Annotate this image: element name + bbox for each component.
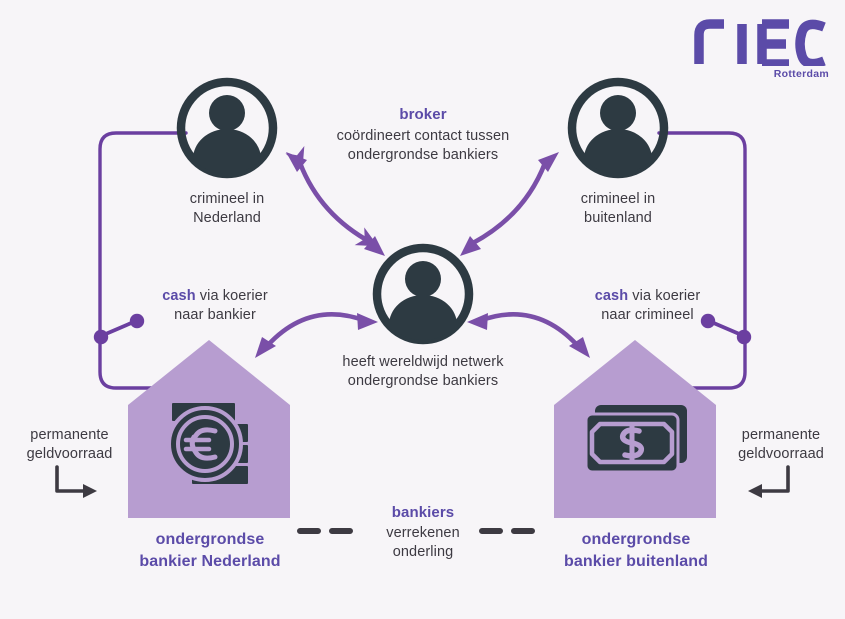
broker-desc-line2: ondergrondse bankiers [313, 146, 533, 165]
label-permanent-stock-right: permanente geldvoorraad [722, 426, 840, 464]
avatar-criminal-abroad [572, 82, 664, 174]
riec-logo-subtitle: Rotterdam [774, 68, 829, 80]
permanent-stock-arrow-right [748, 467, 788, 498]
broker-sub-line2: ondergrondse bankiers [323, 372, 523, 391]
settlement-title: bankiers [363, 503, 483, 523]
label-criminal-abroad: crimineel in buitenland [548, 190, 688, 228]
banker-abroad-line2: bankier buitenland [555, 551, 717, 573]
arrow-broker-criminal-nl [300, 163, 372, 243]
label-banker-abroad: ondergrondse bankier buitenland [555, 529, 717, 572]
house-banker-abroad [554, 340, 716, 518]
label-criminal-nl-line2: Nederland [157, 209, 297, 228]
label-broker-network: heeft wereldwijd netwerk ondergrondse ba… [323, 353, 523, 391]
label-criminal-nl-line1: crimineel in [157, 190, 297, 209]
courier-path-right [659, 133, 751, 388]
avatar-criminal-nl [181, 82, 273, 174]
arrow-broker-criminal-abroad [460, 152, 559, 256]
cash-right-line2: naar crimineel [570, 306, 725, 325]
label-banker-nl: ondergrondse bankier Nederland [130, 529, 290, 572]
settlement-line1: verrekenen [363, 524, 483, 543]
banker-abroad-line1: ondergrondse [555, 529, 717, 551]
label-cash-left: cash via koerier naar bankier [140, 287, 290, 325]
cash-left-line2: naar bankier [140, 306, 290, 325]
banker-nl-line1: ondergrondse [130, 529, 290, 551]
label-criminal-abroad-line2: buitenland [548, 209, 688, 228]
broker-sub-line1: heeft wereldwijd netwerk [323, 353, 523, 372]
avatar-broker [377, 248, 469, 340]
infographic-canvas: Rotterdam [0, 0, 845, 619]
settlement-line2: onderling [363, 543, 483, 562]
cash-right-bold: cash [595, 288, 628, 304]
label-settlement: bankiers verrekenen onderling [363, 503, 483, 562]
stock-right-line1: permanente [722, 426, 840, 445]
courier-path-left [94, 133, 186, 388]
stock-right-line2: geldvoorraad [722, 445, 840, 464]
banker-nl-line2: bankier Nederland [130, 551, 290, 573]
cash-left-rest: via koerier [196, 288, 268, 304]
label-criminal-nl: crimineel in Nederland [157, 190, 297, 228]
dollar-banknotes-icon [586, 405, 687, 472]
house-banker-nl [128, 340, 290, 518]
arrowheads-upper-left [286, 152, 385, 256]
stock-left-line1: permanente [12, 426, 127, 445]
riec-logo-mark [694, 18, 829, 66]
broker-desc-line1: coördineert contact tussen [313, 127, 533, 146]
label-cash-right: cash via koerier naar crimineel [570, 287, 725, 325]
cash-right-rest: via koerier [628, 288, 700, 304]
broker-title: broker [313, 105, 533, 125]
label-criminal-abroad-line1: crimineel in [548, 190, 688, 209]
label-permanent-stock-left: permanente geldvoorraad [12, 426, 127, 464]
label-broker: broker coördineert contact tussen onderg… [313, 105, 533, 165]
euro-coins-icon [169, 403, 248, 484]
cash-left-bold: cash [162, 288, 195, 304]
permanent-stock-arrow-left [57, 467, 97, 498]
riec-logo: Rotterdam [694, 18, 829, 84]
stock-left-line2: geldvoorraad [12, 445, 127, 464]
